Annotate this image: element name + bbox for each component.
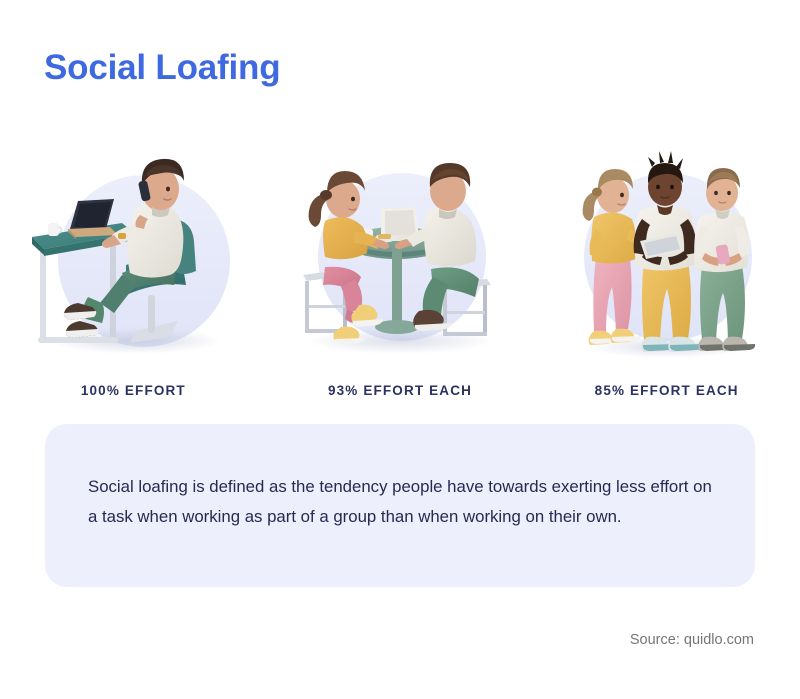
illustration-one-person	[18, 145, 248, 370]
source-credit: Source: quidlo.com	[630, 632, 754, 648]
effort-panels: 100% EFFORT	[0, 128, 800, 398]
description-box: Social loafing is defined as the tendenc…	[45, 424, 755, 587]
illustration-two-people	[285, 145, 515, 370]
effort-panel-1: 100% EFFORT	[0, 128, 267, 398]
effort-label-1: 100% EFFORT	[81, 383, 186, 398]
description-text: Social loafing is defined as the tendenc…	[88, 472, 716, 531]
effort-panel-2: 93% EFFORT EACH	[267, 128, 534, 398]
effort-label-3: 85% EFFORT EACH	[595, 383, 739, 398]
effort-panel-3: 85% EFFORT EACH	[533, 128, 800, 398]
page-title: Social Loafing	[44, 46, 280, 90]
illustration-three-people	[552, 145, 782, 370]
effort-label-2: 93% EFFORT EACH	[328, 383, 472, 398]
infographic-page: Social Loafing	[0, 0, 800, 699]
